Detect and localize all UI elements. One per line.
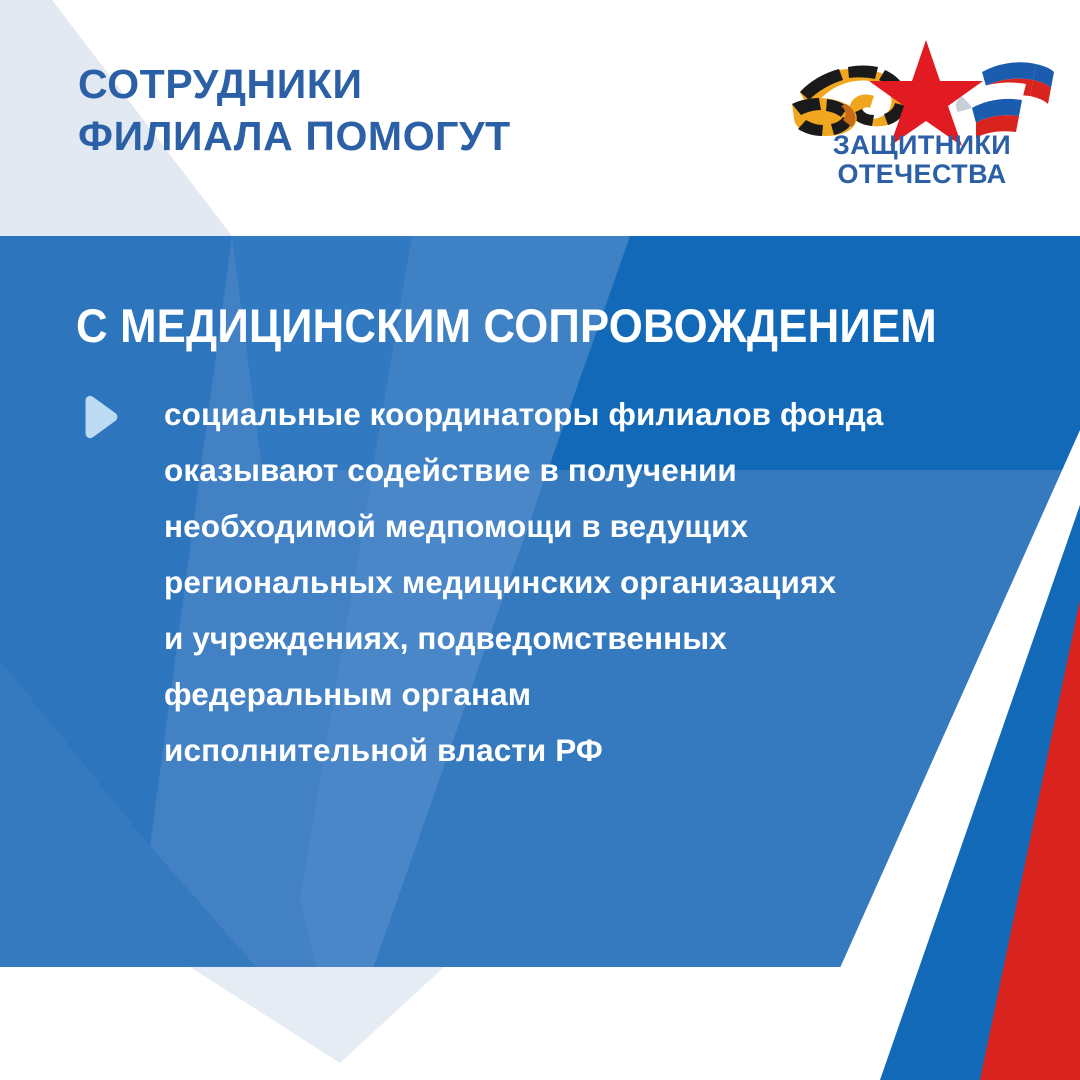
logo-wordmark: ЗАЩИТНИКИ ОТЕЧЕСТВА	[786, 131, 1058, 189]
russian-tricolor-ribbon-icon	[956, 46, 1058, 138]
logo: ЗАЩИТНИКИ ОТЕЧЕСТВА	[786, 34, 1058, 200]
page-title: СОТРУДНИКИ ФИЛИАЛА ПОМОГУТ	[78, 58, 678, 163]
page-title-line-2: ФИЛИАЛА ПОМОГУТ	[78, 110, 678, 162]
body-line-1: социальные координаторы филиалов фонда	[164, 386, 1006, 442]
body-line-2: оказывают содействие в получении	[164, 442, 1006, 498]
body-line-6: федеральным органам	[164, 666, 1006, 722]
main-content: С МЕДИЦИНСКИМ СОПРОВОЖДЕНИЕМ социальные …	[0, 236, 1080, 967]
play-triangle-bullet-icon	[76, 394, 122, 440]
body-paragraph: социальные координаторы филиалов фонда о…	[164, 386, 1006, 778]
page-title-line-1: СОТРУДНИКИ	[78, 58, 678, 110]
bullet-item: социальные координаторы филиалов фонда о…	[76, 386, 1006, 778]
header: СОТРУДНИКИ ФИЛИАЛА ПОМОГУТ	[0, 0, 1080, 236]
saint-george-ribbon-icon	[792, 66, 907, 137]
body-line-5: и учреждениях, подведомственных	[164, 610, 1006, 666]
logo-wordmark-line-2: ОТЕЧЕСТВА	[786, 160, 1058, 189]
logo-wordmark-line-1: ЗАЩИТНИКИ	[786, 131, 1058, 160]
body-line-3: необходимой медпомощи в ведущих	[164, 498, 1006, 554]
body-line-4: региональных медицинских организациях	[164, 554, 1006, 610]
body-line-7: исполнительной власти РФ	[164, 722, 1006, 778]
poster-canvas: СОТРУДНИКИ ФИЛИАЛА ПОМОГУТ	[0, 0, 1080, 1080]
section-headline: С МЕДИЦИНСКИМ СОПРОВОЖДЕНИЕМ	[76, 298, 950, 353]
